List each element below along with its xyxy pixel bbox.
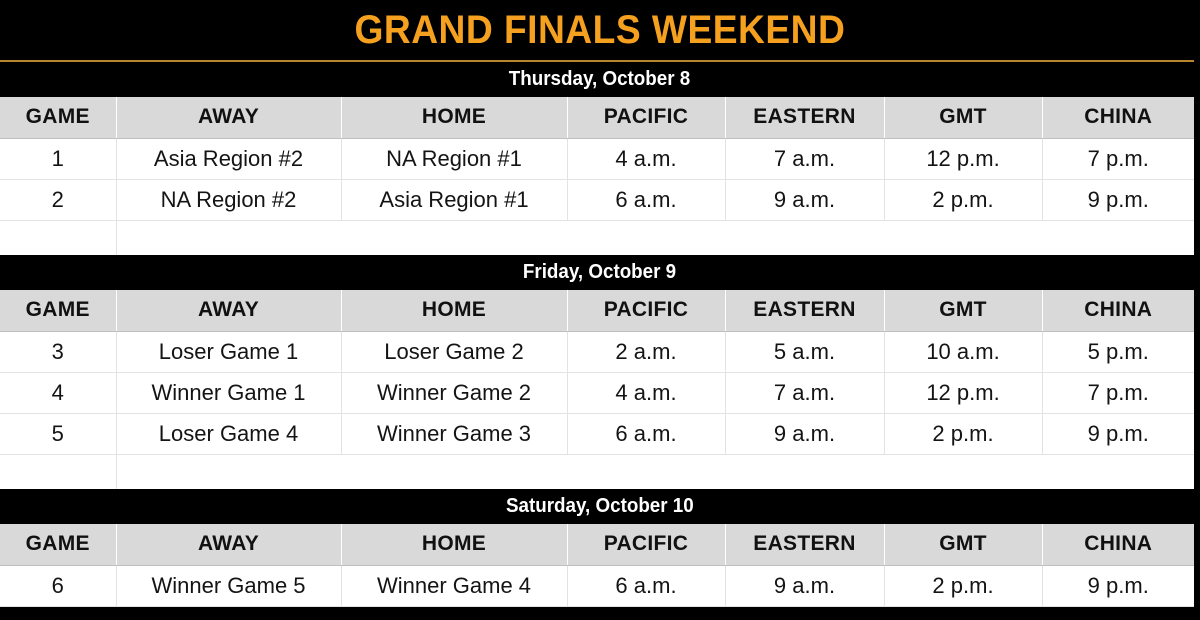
cell-pacific: 4 a.m. <box>567 372 725 413</box>
cell-game: 3 <box>0 331 116 372</box>
cell-gmt: 10 a.m. <box>884 331 1042 372</box>
cell-game: 4 <box>0 372 116 413</box>
cell-pacific: 6 a.m. <box>567 179 725 220</box>
table-row: 1 Asia Region #2 NA Region #1 4 a.m. 7 a… <box>0 138 1194 179</box>
column-header-home: HOME <box>341 290 567 331</box>
cell-gmt: 12 p.m. <box>884 372 1042 413</box>
cell-china: 5 p.m. <box>1042 331 1194 372</box>
column-header-game: GAME <box>0 524 116 565</box>
column-header-away: AWAY <box>116 290 341 331</box>
cell-gmt: 2 p.m. <box>884 565 1042 606</box>
schedule-table-friday: GAME AWAY HOME PACIFIC EASTERN GMT CHINA… <box>0 290 1194 489</box>
table-spacer-row <box>0 220 1194 255</box>
page-title: GRAND FINALS WEEKEND <box>355 10 846 50</box>
cell-china: 9 p.m. <box>1042 413 1194 454</box>
cell-home: Winner Game 2 <box>341 372 567 413</box>
cell-away: Winner Game 5 <box>116 565 341 606</box>
spacer-cell-merged <box>116 454 1194 489</box>
column-header-china: CHINA <box>1042 290 1194 331</box>
cell-pacific: 6 a.m. <box>567 413 725 454</box>
table-row: 4 Winner Game 1 Winner Game 2 4 a.m. 7 a… <box>0 372 1194 413</box>
table-row: 3 Loser Game 1 Loser Game 2 2 a.m. 5 a.m… <box>0 331 1194 372</box>
schedule-table-saturday: GAME AWAY HOME PACIFIC EASTERN GMT CHINA… <box>0 524 1194 607</box>
cell-game: 6 <box>0 565 116 606</box>
column-header-china: CHINA <box>1042 524 1194 565</box>
cell-eastern: 7 a.m. <box>725 372 884 413</box>
cell-gmt: 12 p.m. <box>884 138 1042 179</box>
column-header-pacific: PACIFIC <box>567 290 725 331</box>
column-header-home: HOME <box>341 97 567 138</box>
table-row: 6 Winner Game 5 Winner Game 4 6 a.m. 9 a… <box>0 565 1194 606</box>
table-spacer-row <box>0 454 1194 489</box>
column-header-gmt: GMT <box>884 524 1042 565</box>
cell-china: 9 p.m. <box>1042 179 1194 220</box>
cell-pacific: 6 a.m. <box>567 565 725 606</box>
day-banner-friday: Friday, October 9 <box>0 255 1200 290</box>
column-header-pacific: PACIFIC <box>567 97 725 138</box>
schedule-table-thursday: GAME AWAY HOME PACIFIC EASTERN GMT CHINA… <box>0 97 1194 255</box>
day-banner-thursday-label: Thursday, October 8 <box>509 68 690 91</box>
title-bar: GRAND FINALS WEEKEND <box>0 0 1200 60</box>
cell-home: Loser Game 2 <box>341 331 567 372</box>
cell-eastern: 7 a.m. <box>725 138 884 179</box>
cell-away: Asia Region #2 <box>116 138 341 179</box>
cell-home: Asia Region #1 <box>341 179 567 220</box>
column-header-pacific: PACIFIC <box>567 524 725 565</box>
cell-pacific: 4 a.m. <box>567 138 725 179</box>
cell-china: 9 p.m. <box>1042 565 1194 606</box>
table-header-row: GAME AWAY HOME PACIFIC EASTERN GMT CHINA <box>0 290 1194 331</box>
cell-gmt: 2 p.m. <box>884 413 1042 454</box>
spacer-cell-merged <box>116 220 1194 255</box>
cell-away: Loser Game 1 <box>116 331 341 372</box>
cell-gmt: 2 p.m. <box>884 179 1042 220</box>
table-row: 5 Loser Game 4 Winner Game 3 6 a.m. 9 a.… <box>0 413 1194 454</box>
column-header-eastern: EASTERN <box>725 290 884 331</box>
spacer-cell-game <box>0 454 116 489</box>
cell-away: Winner Game 1 <box>116 372 341 413</box>
table-header-row: GAME AWAY HOME PACIFIC EASTERN GMT CHINA <box>0 97 1194 138</box>
day-banner-friday-label: Friday, October 9 <box>523 261 676 284</box>
cell-china: 7 p.m. <box>1042 138 1194 179</box>
day-banner-thursday: Thursday, October 8 <box>0 62 1200 97</box>
column-header-china: CHINA <box>1042 97 1194 138</box>
cell-home: Winner Game 4 <box>341 565 567 606</box>
column-header-away: AWAY <box>116 97 341 138</box>
cell-away: Loser Game 4 <box>116 413 341 454</box>
spacer-cell-game <box>0 220 116 255</box>
cell-game: 2 <box>0 179 116 220</box>
cell-eastern: 9 a.m. <box>725 413 884 454</box>
day-banner-saturday: Saturday, October 10 <box>0 489 1200 524</box>
cell-eastern: 9 a.m. <box>725 179 884 220</box>
cell-game: 5 <box>0 413 116 454</box>
column-header-away: AWAY <box>116 524 341 565</box>
column-header-eastern: EASTERN <box>725 97 884 138</box>
cell-home: Winner Game 3 <box>341 413 567 454</box>
column-header-game: GAME <box>0 97 116 138</box>
column-header-game: GAME <box>0 290 116 331</box>
cell-game: 1 <box>0 138 116 179</box>
table-header-row: GAME AWAY HOME PACIFIC EASTERN GMT CHINA <box>0 524 1194 565</box>
cell-eastern: 5 a.m. <box>725 331 884 372</box>
cell-home: NA Region #1 <box>341 138 567 179</box>
right-edge-strip <box>1194 0 1200 620</box>
column-header-home: HOME <box>341 524 567 565</box>
schedule-page: GRAND FINALS WEEKEND Thursday, October 8… <box>0 0 1200 620</box>
column-header-eastern: EASTERN <box>725 524 884 565</box>
cell-eastern: 9 a.m. <box>725 565 884 606</box>
column-header-gmt: GMT <box>884 97 1042 138</box>
cell-away: NA Region #2 <box>116 179 341 220</box>
table-row: 2 NA Region #2 Asia Region #1 6 a.m. 9 a… <box>0 179 1194 220</box>
day-banner-saturday-label: Saturday, October 10 <box>506 495 694 518</box>
column-header-gmt: GMT <box>884 290 1042 331</box>
cell-pacific: 2 a.m. <box>567 331 725 372</box>
cell-china: 7 p.m. <box>1042 372 1194 413</box>
